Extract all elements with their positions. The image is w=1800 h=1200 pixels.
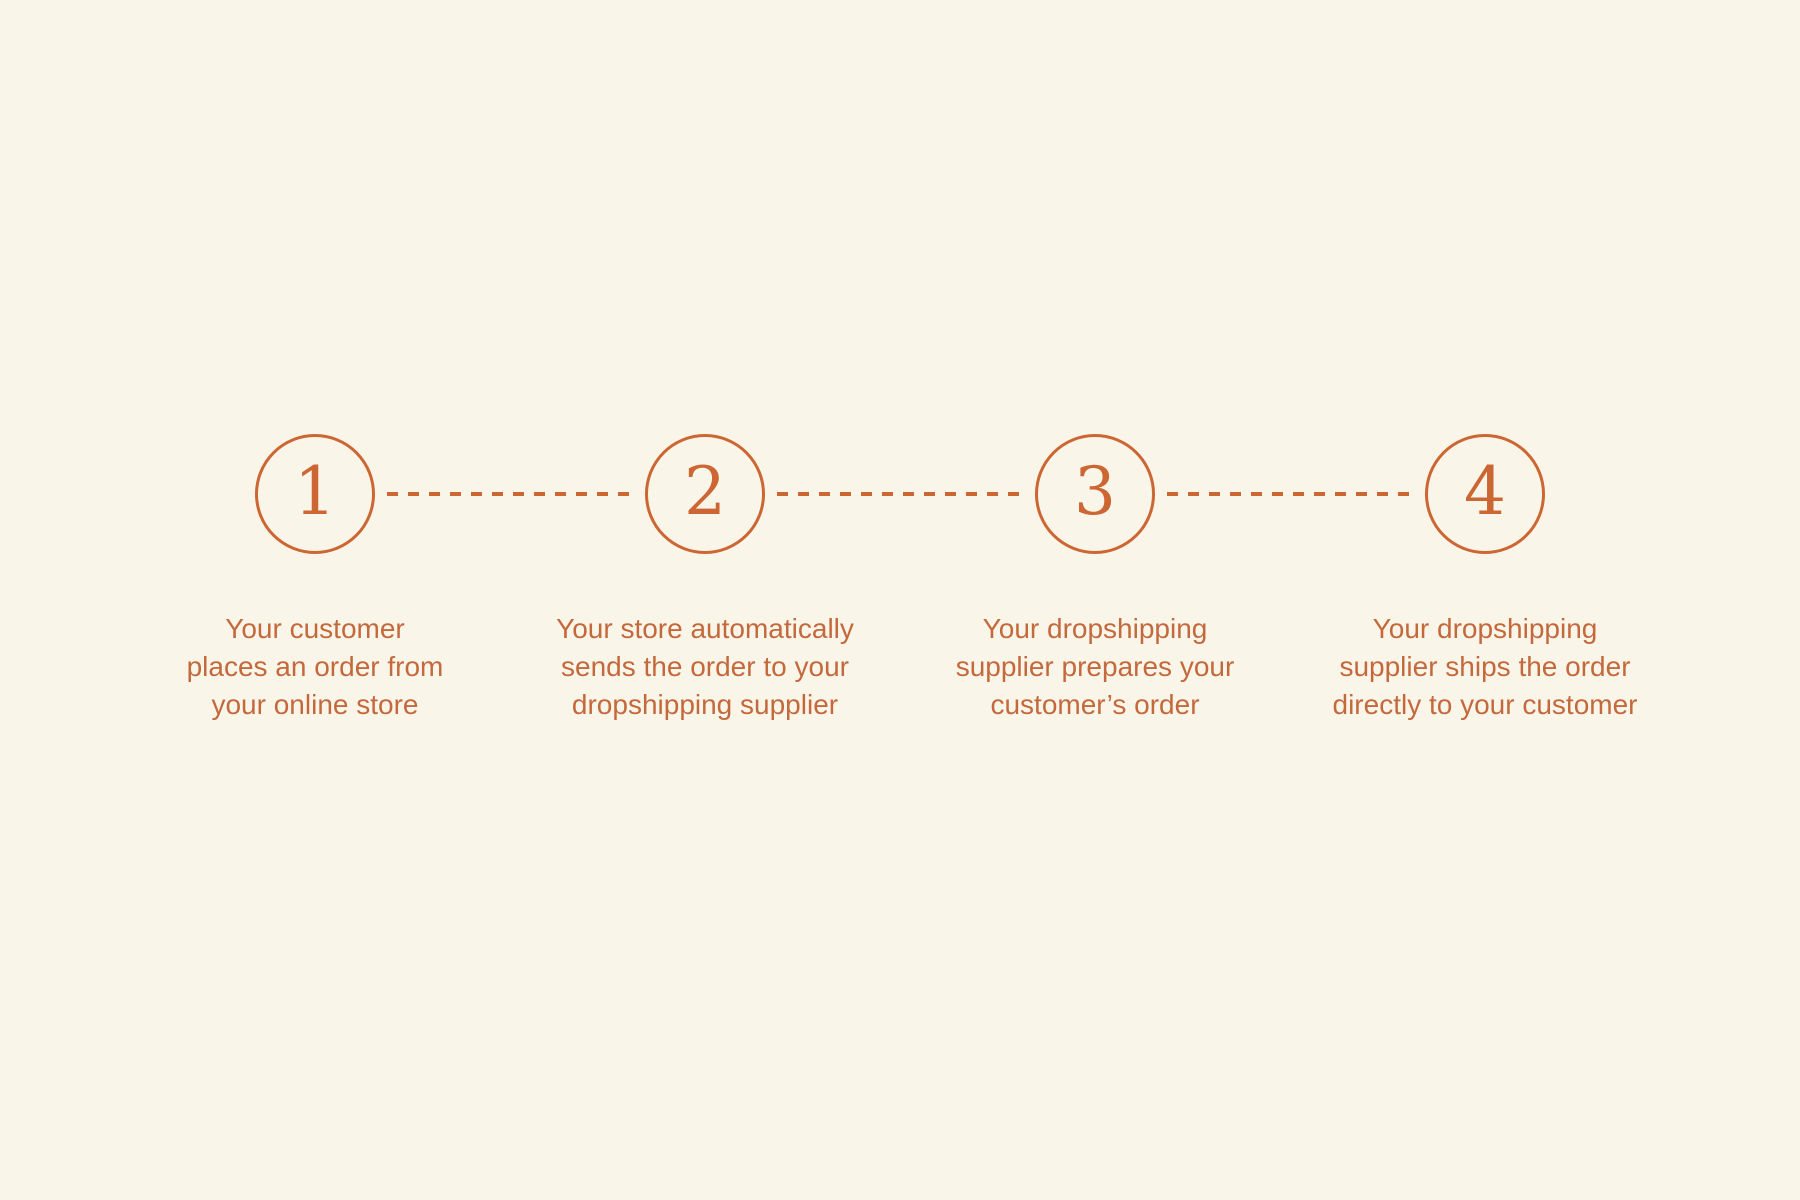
step-caption-3: Your dropshipping supplier prepares your… [930, 610, 1260, 724]
process-step-2: 2 Your store automatically sends the ord… [550, 430, 860, 724]
step-number-circle-3: 3 [1035, 434, 1155, 554]
dropshipping-process-infographic: 1 Your customer places an order from you… [0, 0, 1800, 1200]
process-steps-row: 1 Your customer places an order from you… [160, 430, 1640, 724]
step-number-label-1: 1 [294, 459, 336, 525]
step-caption-4: Your dropshipping supplier ships the ord… [1320, 610, 1650, 724]
process-step-3: 3 Your dropshipping supplier prepares yo… [940, 430, 1250, 724]
step-number-circle-2: 2 [645, 434, 765, 554]
step-number-label-4: 4 [1464, 459, 1506, 525]
step-number-label-3: 3 [1074, 459, 1116, 525]
step-number-label-2: 2 [684, 459, 726, 525]
step-caption-1: Your customer places an order from your … [150, 610, 480, 724]
step-badge-wrap-3: 3 [1035, 430, 1155, 558]
process-step-4: 4 Your dropshipping supplier ships the o… [1330, 430, 1640, 724]
step-badge-wrap-2: 2 [645, 430, 765, 558]
step-number-circle-4: 4 [1425, 434, 1545, 554]
process-step-1: 1 Your customer places an order from you… [160, 430, 470, 724]
step-caption-2: Your store automatically sends the order… [540, 610, 870, 724]
step-badge-wrap-1: 1 [255, 430, 375, 558]
step-number-circle-1: 1 [255, 434, 375, 554]
step-badge-wrap-4: 4 [1425, 430, 1545, 558]
